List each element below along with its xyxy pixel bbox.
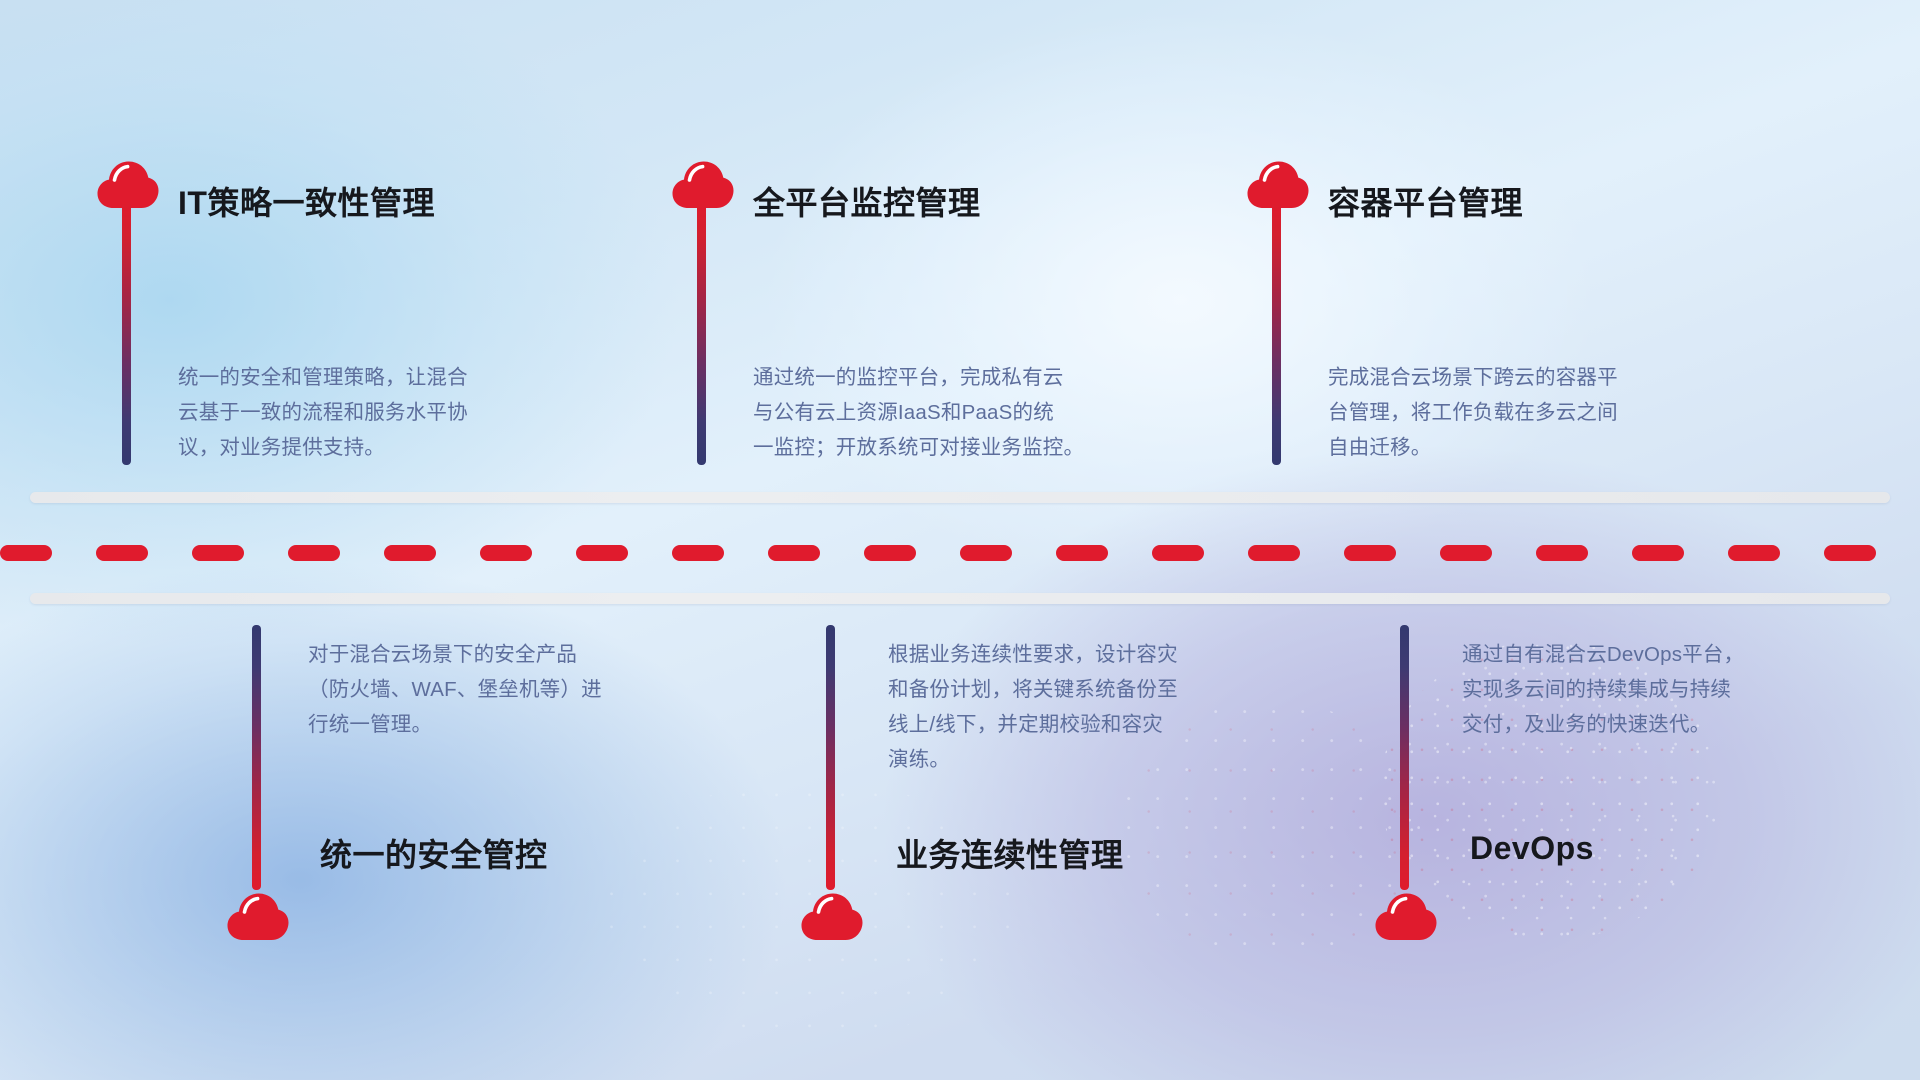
dash-segment: [288, 545, 340, 561]
dash-segment: [384, 545, 436, 561]
dash-segment: [1728, 545, 1780, 561]
dash-segment: [1056, 545, 1108, 561]
dash-segment: [1440, 545, 1492, 561]
connector-stem: [826, 625, 835, 890]
dash-segment: [576, 545, 628, 561]
dash-segment: [1824, 545, 1876, 561]
item-description: 通过统一的监控平台，完成私有云 与公有云上资源IaaS和PaaS的统 一监控；开…: [753, 360, 1143, 465]
item-description: 完成混合云场景下跨云的容器平 台管理，将工作负载在多云之间 自由迁移。: [1328, 360, 1698, 465]
item-title: 全平台监控管理: [753, 178, 981, 224]
dash-segment: [1248, 545, 1300, 561]
dash-segment: [480, 545, 532, 561]
connector-stem: [697, 200, 706, 465]
item-title: IT策略一致性管理: [178, 178, 435, 224]
dash-segment: [768, 545, 820, 561]
connector-stem: [122, 200, 131, 465]
dash-segment: [960, 545, 1012, 561]
dash-segment: [192, 545, 244, 561]
item-title: 统一的安全管控: [320, 830, 548, 876]
item-description: 统一的安全和管理策略，让混合 云基于一致的流程和服务水平协 议，对业务提供支持。: [178, 360, 548, 465]
dash-segment: [96, 545, 148, 561]
dash-segment: [1632, 545, 1684, 561]
cloud-icon: [1374, 892, 1438, 942]
divider-line-upper: [30, 492, 1890, 503]
item-description: 通过自有混合云DevOps平台， 实现多云间的持续集成与持续 交付，及业务的快速…: [1462, 637, 1832, 742]
connector-stem: [1272, 200, 1281, 465]
dash-segment: [864, 545, 916, 561]
item-description: 根据业务连续性要求，设计容灾 和备份计划，将关键系统备份至 线上/线下，并定期校…: [888, 637, 1258, 777]
item-title: 业务连续性管理: [896, 830, 1124, 876]
dash-segment: [1536, 545, 1588, 561]
infographic-canvas: IT策略一致性管理 统一的安全和管理策略，让混合 云基于一致的流程和服务水平协 …: [0, 0, 1920, 1080]
cloud-icon: [226, 892, 290, 942]
dashed-divider: [0, 545, 1920, 561]
connector-stem: [252, 625, 261, 890]
item-title: DevOps: [1470, 830, 1594, 867]
dash-segment: [1344, 545, 1396, 561]
dash-segment: [0, 545, 52, 561]
connector-stem: [1400, 625, 1409, 890]
dash-segment: [672, 545, 724, 561]
dash-segment: [1152, 545, 1204, 561]
divider-line-lower: [30, 593, 1890, 604]
item-title: 容器平台管理: [1328, 178, 1523, 224]
cloud-icon: [800, 892, 864, 942]
item-description: 对于混合云场景下的安全产品 （防火墙、WAF、堡垒机等）进 行统一管理。: [308, 637, 678, 742]
